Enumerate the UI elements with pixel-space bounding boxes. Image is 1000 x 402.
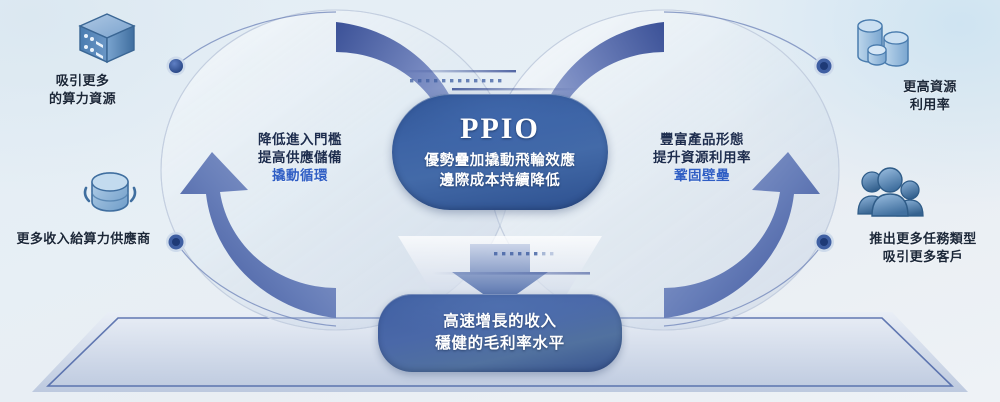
center-node-title: PPIO (460, 114, 540, 144)
outer-label-bottom-right: 推出更多任務類型 吸引更多客戶 (848, 230, 998, 265)
outer-label-top-left: 吸引更多 的算力資源 (10, 72, 155, 107)
center-node: PPIO 優勢疊加撬動飛輪效應 邊際成本持續降低 (392, 94, 608, 210)
wing-left-highlight: 撬動循環 (236, 167, 364, 185)
center-node-subtitle: 優勢疊加撬動飛輪效應 邊際成本持續降低 (425, 151, 576, 191)
wing-left-line1: 降低進入門檻 (236, 131, 364, 149)
bottom-outcome-node: 高速增長的收入 穩健的毛利率水平 (378, 294, 622, 372)
wing-left-line2: 提高供應儲備 (236, 149, 364, 167)
outer-label-line2: 吸引更多客戶 (848, 248, 998, 266)
outer-label-line2: 的算力資源 (10, 90, 155, 108)
server-rack-icon (72, 10, 142, 68)
bottom-node-text: 高速增長的收入 穩健的毛利率水平 (435, 311, 565, 355)
outer-label-line2: 利用率 (868, 96, 992, 114)
center-subtitle-line1: 優勢疊加撬動飛輪效應 (425, 151, 576, 171)
outer-label-line1: 更高資源 (868, 78, 992, 96)
outer-label-line1: 更多收入給算力供應商 (6, 230, 161, 248)
outer-label-top-right: 更高資源 利用率 (868, 78, 992, 113)
database-coin-icon (78, 164, 142, 222)
wing-right-highlight: 鞏固壁壘 (636, 167, 768, 185)
bottom-line1: 高速增長的收入 (435, 311, 565, 333)
center-subtitle-line2: 邊際成本持續降低 (425, 171, 576, 191)
wing-right-line1: 豐富產品形態 (636, 131, 768, 149)
bottom-line2: 穩健的毛利率水平 (435, 333, 565, 355)
cylinder-cluster-icon (848, 10, 918, 70)
outer-label-bottom-left: 更多收入給算力供應商 (6, 230, 161, 248)
outer-label-line1: 推出更多任務類型 (848, 230, 998, 248)
diagram-canvas: 吸引更多 的算力資源 更多收入給算力供應商 更高資源 利用率 推出更多任務類型 … (0, 0, 1000, 402)
wing-text-right: 豐富產品形態 提升資源利用率 鞏固壁壘 (636, 131, 768, 184)
users-group-icon (856, 164, 928, 222)
wing-right-line2: 提升資源利用率 (636, 149, 768, 167)
wing-text-left: 降低進入門檻 提高供應儲備 撬動循環 (236, 131, 364, 184)
outer-label-line1: 吸引更多 (10, 72, 155, 90)
